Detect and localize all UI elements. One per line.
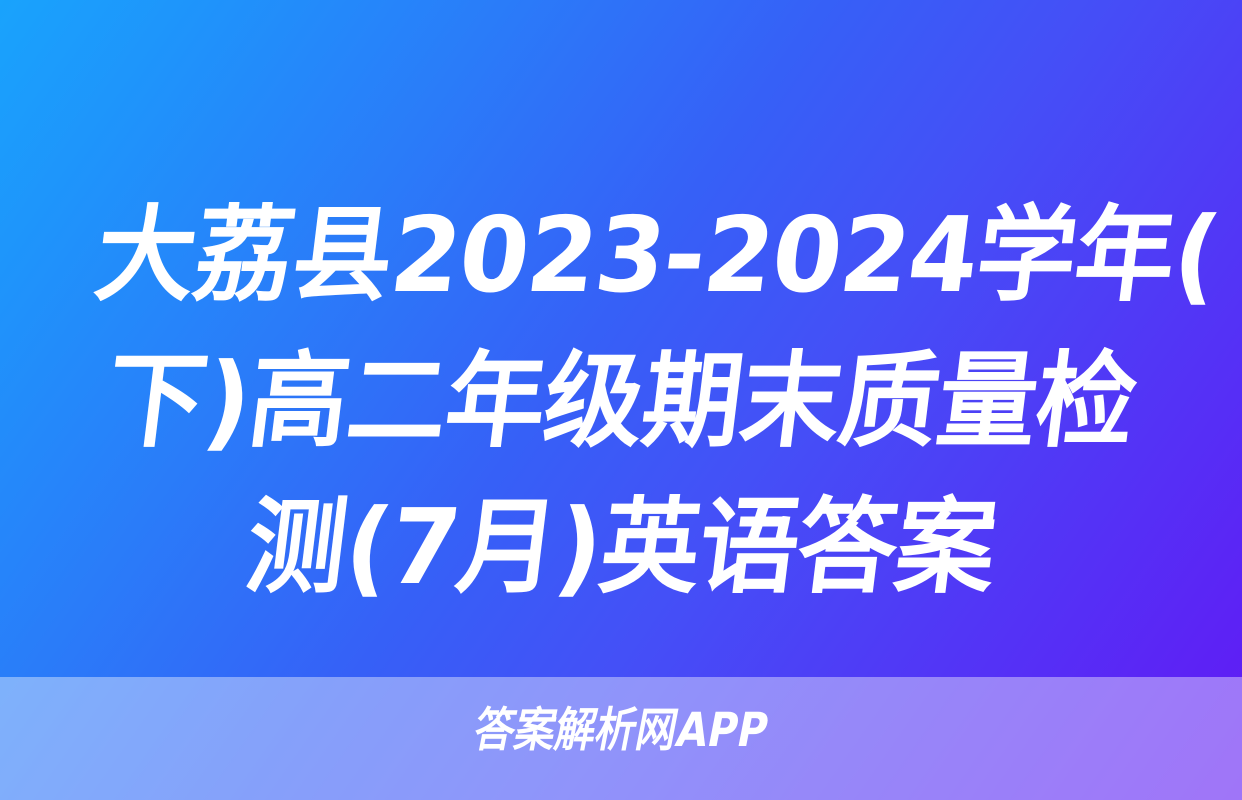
title-line-2: 下)高二年级期末质量检 [88, 328, 1155, 474]
title-line-1: 大荔县2023-2024学年( [88, 182, 1155, 328]
poster-canvas: 大荔县2023-2024学年( 下)高二年级期末质量检 测(7月)英语答案 答案… [0, 0, 1242, 800]
title-line-3: 测(7月)英语答案 [88, 474, 1155, 620]
watermark: 答案解析网APP [0, 703, 1242, 759]
watermark-text: 答案解析网APP [469, 703, 773, 759]
page-title: 大荔县2023-2024学年( 下)高二年级期末质量检 测(7月)英语答案 [0, 182, 1242, 620]
